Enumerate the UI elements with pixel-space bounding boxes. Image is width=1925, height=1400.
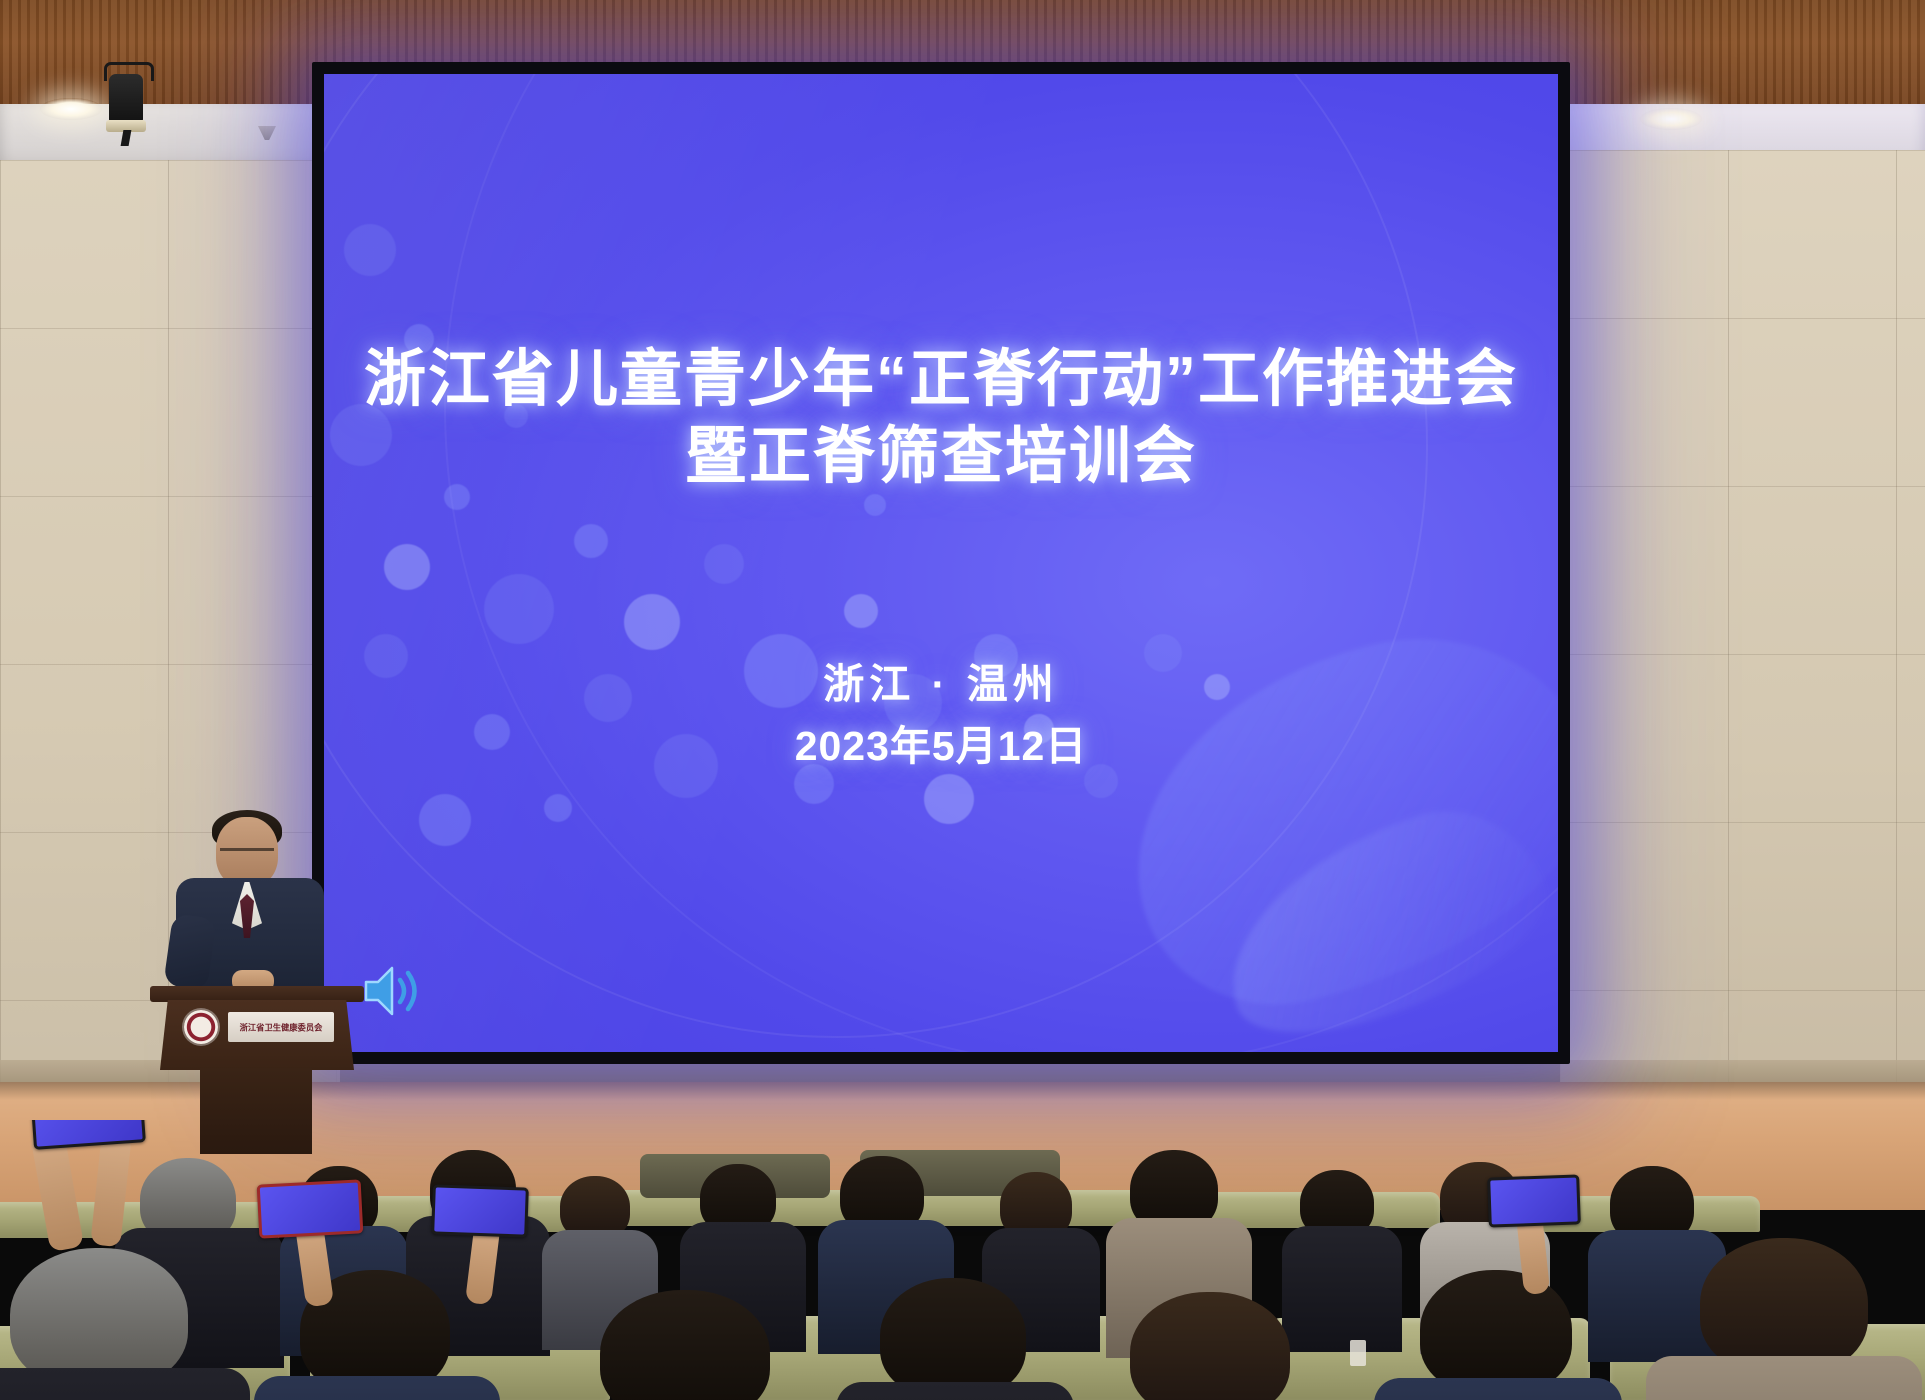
screen-content: 浙江省儿童青少年“正脊行动”工作推进会 暨正脊筛查培训会 浙江 · 温州 202… [324,74,1558,1052]
smartphone-icon[interactable] [1487,1174,1581,1227]
title-line-1: 浙江省儿童青少年“正脊行动”工作推进会 [324,342,1558,419]
led-screen-frame: 浙江省儿童青少年“正脊行动”工作推进会 暨正脊筛查培训会 浙江 · 温州 202… [312,62,1570,1064]
podium-nameplate-text: 浙江省卫生健康委员会 [240,1021,323,1033]
right-wall [1560,150,1925,1160]
ceiling-downlight-icon [1640,108,1702,130]
podium-nameplate: 浙江省卫生健康委员会 [228,1012,334,1042]
lanyard-badge [1350,1340,1366,1366]
wall-panel-grid [1560,150,1925,1160]
emblem-icon [184,1010,218,1044]
smartphone-icon[interactable] [431,1184,529,1237]
presentation-meta: 浙江 · 温州 2023年5月12日 [324,654,1558,777]
speaker-icon [362,960,420,1022]
conference-hall-screenshot: 浙江省儿童青少年“正脊行动”工作推进会 暨正脊筛查培训会 浙江 · 温州 202… [0,0,1925,1400]
audience-area [0,1120,1925,1400]
podium-top [150,986,364,1002]
event-place: 浙江 · 温州 [324,654,1558,716]
ceiling-downlight-icon [40,98,102,120]
speaker-glasses-icon [220,848,274,863]
presentation-title: 浙江省儿童青少年“正脊行动”工作推进会 暨正脊筛查培训会 [324,342,1558,496]
stage-spotlight-icon [100,62,152,146]
smartphone-icon[interactable] [257,1179,364,1238]
led-screen: 浙江省儿童青少年“正脊行动”工作推进会 暨正脊筛查培训会 浙江 · 温州 202… [324,74,1558,1052]
podium-and-speaker: 浙江省卫生健康委员会 [150,820,370,1150]
title-line-2: 暨正脊筛查培训会 [324,419,1558,496]
event-date: 2023年5月12日 [324,716,1558,778]
